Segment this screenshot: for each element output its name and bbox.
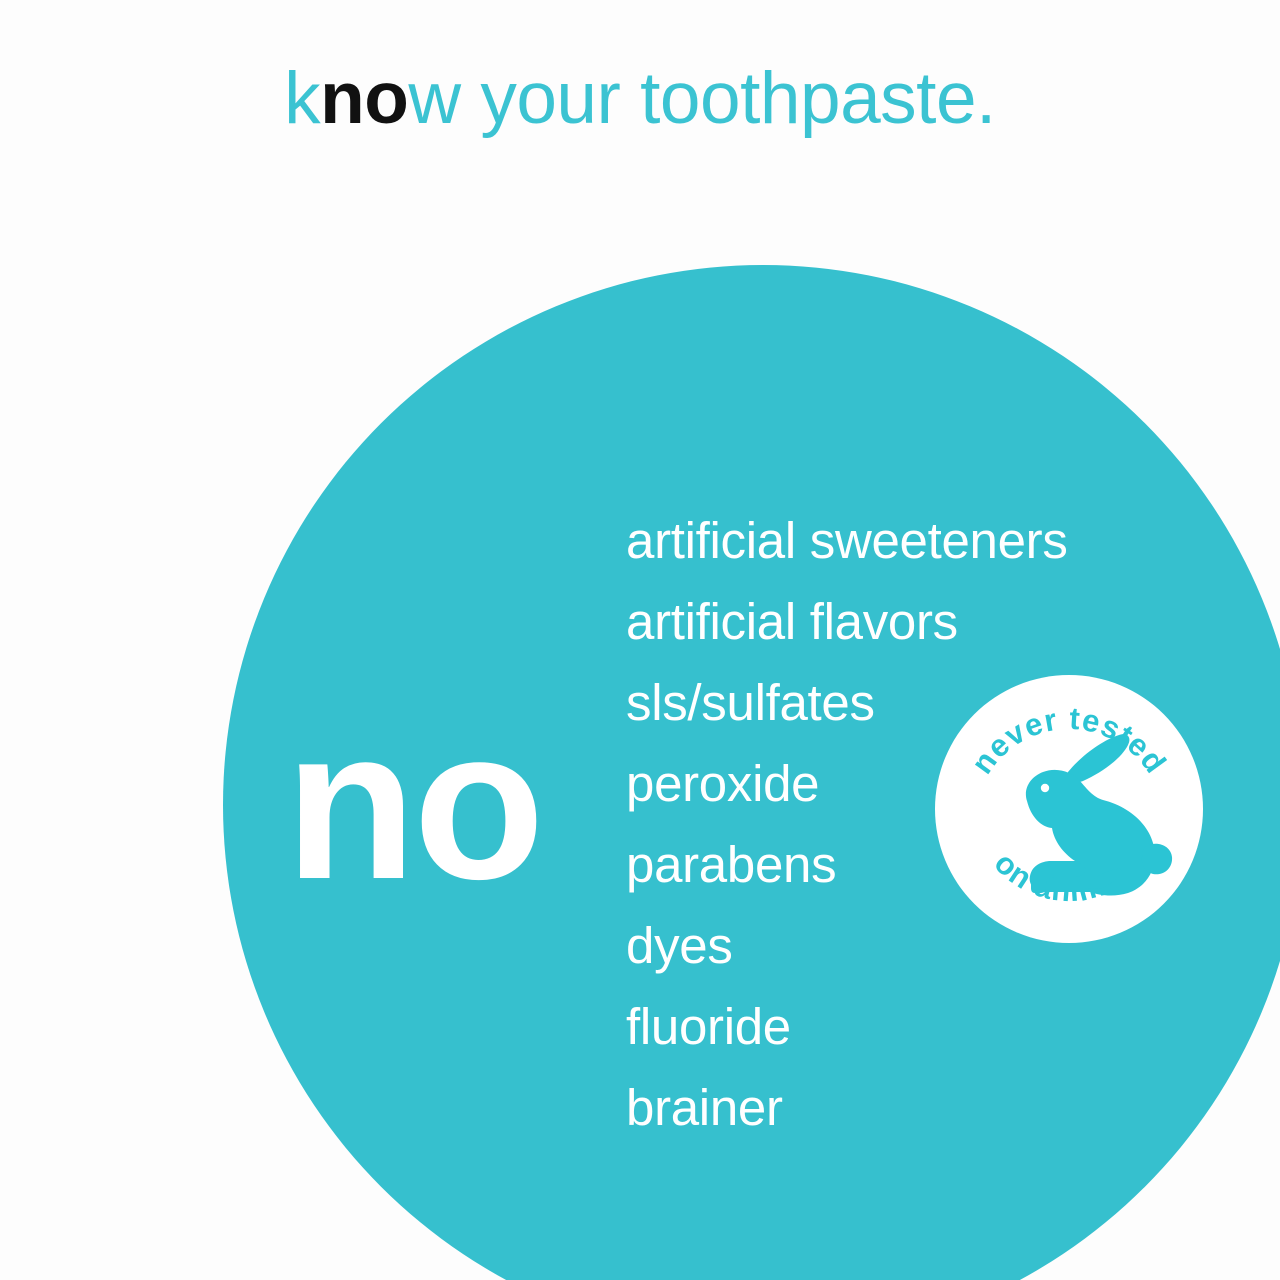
rabbit-eye-icon xyxy=(1041,784,1049,792)
big-no-word: no xyxy=(285,716,542,892)
title-segment-know-k: k xyxy=(284,58,320,139)
page-title: know your toothpaste. xyxy=(0,62,1280,135)
list-item: fluoride xyxy=(626,986,1146,1067)
list-item: artificial sweeteners xyxy=(626,500,1146,581)
list-item: brainer xyxy=(626,1067,1146,1148)
never-tested-on-animals-badge: never tested on animals xyxy=(935,675,1203,943)
title-segment-know-no: no xyxy=(320,58,408,139)
title-segment-rest: w your toothpaste. xyxy=(408,58,996,139)
poster-canvas: know your toothpaste. no artificial swee… xyxy=(0,0,1280,1280)
list-item: artificial flavors xyxy=(626,581,1146,662)
